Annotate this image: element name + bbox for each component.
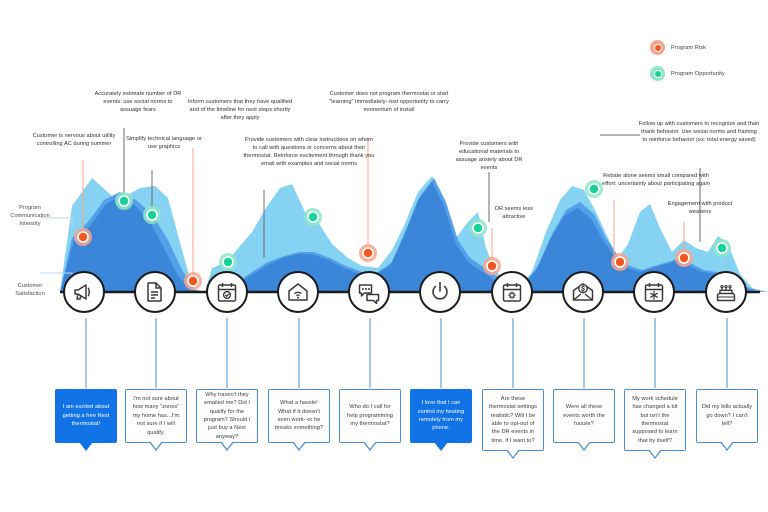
- journey-stage-home-wifi[interactable]: [277, 271, 319, 313]
- annotation-a11: Engagement with product weakens: [663, 200, 737, 216]
- opportunity-marker[interactable]: [469, 219, 487, 237]
- customer-quote-text: What a hassle! What if it doesn't even w…: [273, 399, 325, 433]
- customer-quote-q1[interactable]: I am excited about getting a free Nest t…: [55, 389, 117, 443]
- axis-label-program-communication-intensity: ProgramCommunicationIntensity: [2, 205, 58, 229]
- opportunity-marker[interactable]: [143, 206, 161, 224]
- legend-item-opportunity: Program Opportunity: [650, 66, 760, 81]
- quote-tail: [578, 441, 590, 449]
- customer-quote-text: Who do I call for help programming my th…: [344, 403, 396, 428]
- risk-marker[interactable]: [611, 253, 629, 271]
- journey-stage-calendar-check[interactable]: [206, 271, 248, 313]
- customer-quote-text: Why haven't they emailed me? Did I quali…: [201, 391, 253, 441]
- journey-stage-chat-bubbles[interactable]: [348, 271, 390, 313]
- chat-bubbles-icon: [357, 280, 381, 304]
- customer-quote-text: I love that I can control my heating rem…: [415, 399, 467, 433]
- megaphone-icon: [72, 280, 96, 304]
- annotation-a3: Simplify technical language or use graph…: [125, 135, 203, 151]
- customer-quote-text: My work schedule has changed a bit but i…: [629, 395, 681, 445]
- customer-quote-q2[interactable]: I'm not sure about how many "zones" my h…: [125, 389, 187, 443]
- journey-stage-megaphone[interactable]: [63, 271, 105, 313]
- cake-icon: [714, 280, 738, 304]
- annotation-a2: Accurately estimate number of DR events:…: [92, 90, 184, 114]
- journey-stage-calendar-sun[interactable]: [491, 271, 533, 313]
- customer-quote-text: Did my bills actually go down? I can't t…: [701, 403, 753, 428]
- opportunity-dot-icon: [650, 66, 665, 81]
- risk-marker[interactable]: [359, 244, 377, 262]
- money-envelope-icon: [571, 280, 595, 304]
- journey-stage-calendar-snowflake[interactable]: [633, 271, 675, 313]
- document-icon: [143, 280, 167, 304]
- opportunity-marker[interactable]: [219, 253, 237, 271]
- quote-tail: [507, 449, 519, 457]
- annotation-a4: Inform customers that they have qualifie…: [186, 98, 294, 122]
- quote-tail: [221, 441, 233, 449]
- customer-quote-text: Were all these events worth the hassle?: [558, 403, 610, 428]
- annotation-a6: Customer does not program thermostat or …: [328, 90, 450, 114]
- legend-item-risk: Program Risk: [650, 40, 760, 55]
- home-wifi-icon: [286, 280, 310, 304]
- annotation-a9: Follow up with customers to recognize an…: [638, 120, 760, 144]
- journey-map-canvas: Program Risk Program Opportunity Program…: [0, 0, 768, 512]
- risk-marker[interactable]: [675, 249, 693, 267]
- customer-quote-q5[interactable]: Who do I call for help programming my th…: [339, 389, 401, 443]
- legend-label-risk: Program Risk: [671, 45, 706, 51]
- calendar-check-icon: [215, 280, 239, 304]
- quote-tail: [150, 441, 162, 449]
- customer-quote-text: Are these thermostat settings realistic?…: [487, 395, 539, 445]
- axis-label-customer-satisfaction: CustomerSatisfaction: [2, 283, 58, 299]
- risk-marker[interactable]: [74, 228, 92, 246]
- customer-quote-q9[interactable]: My work schedule has changed a bit but i…: [624, 389, 686, 451]
- legend: Program Risk Program Opportunity: [650, 40, 760, 92]
- legend-label-opportunity: Program Opportunity: [671, 71, 725, 77]
- customer-quote-q8[interactable]: Were all these events worth the hassle?: [553, 389, 615, 443]
- customer-quote-text: I am excited about getting a free Nest t…: [60, 403, 112, 428]
- opportunity-marker[interactable]: [713, 239, 731, 257]
- power-button-icon: [428, 280, 452, 304]
- customer-quote-q3[interactable]: Why haven't they emailed me? Did I quali…: [196, 389, 258, 443]
- annotation-a8: DR seems less attractive: [483, 205, 545, 221]
- customer-quote-q4[interactable]: What a hassle! What if it doesn't even w…: [268, 389, 330, 443]
- customer-quote-q7[interactable]: Are these thermostat settings realistic?…: [482, 389, 544, 451]
- journey-stage-document[interactable]: [134, 271, 176, 313]
- annotation-a1: Customer is nervous about utility contro…: [28, 132, 120, 148]
- quote-tail: [364, 441, 376, 449]
- journey-stage-money-envelope[interactable]: [562, 271, 604, 313]
- quote-tail: [649, 449, 661, 457]
- risk-dot-icon: [650, 40, 665, 55]
- annotation-a10: Rebate alone seems small compared with e…: [600, 172, 712, 188]
- calendar-snowflake-icon: [642, 280, 666, 304]
- journey-stage-power-button[interactable]: [419, 271, 461, 313]
- opportunity-marker[interactable]: [115, 192, 133, 210]
- annotation-a5: Provide customers with clear instruction…: [243, 136, 375, 168]
- customer-quote-text: I'm not sure about how many "zones" my h…: [130, 395, 182, 437]
- customer-quote-q10[interactable]: Did my bills actually go down? I can't t…: [696, 389, 758, 443]
- quote-tail: [721, 441, 733, 449]
- customer-quote-q6[interactable]: I love that I can control my heating rem…: [410, 389, 472, 443]
- quote-tail: [435, 441, 447, 449]
- risk-marker[interactable]: [184, 272, 202, 290]
- quote-tail: [293, 441, 305, 449]
- annotation-a7: Provide customers with educational mater…: [450, 140, 528, 172]
- journey-stage-cake[interactable]: [705, 271, 747, 313]
- quote-connector-lines: [86, 318, 727, 388]
- calendar-sun-icon: [500, 280, 524, 304]
- risk-marker[interactable]: [483, 257, 501, 275]
- quote-tail: [80, 441, 92, 449]
- opportunity-marker[interactable]: [304, 208, 322, 226]
